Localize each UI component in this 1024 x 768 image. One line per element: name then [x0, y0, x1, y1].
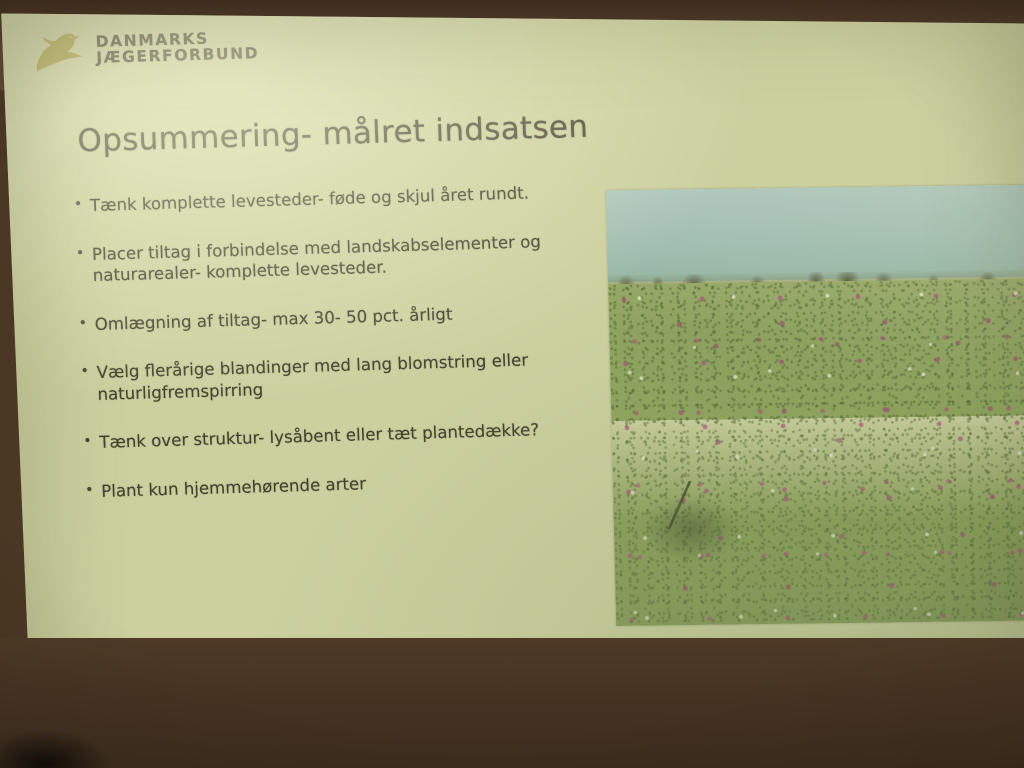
logo-line-2: JÆGERFORBUND — [96, 45, 260, 66]
bullet-text: Vælg flerårige blandinger med lang bloms… — [96, 348, 602, 406]
bullet-item: • Plant kun hjemmehørende arter — [85, 466, 606, 503]
bullet-marker-icon: • — [83, 432, 100, 451]
bullet-marker-icon: • — [76, 244, 93, 263]
photo-sky — [606, 184, 1024, 281]
bullet-item: • Tænk over struktur- lysåbent eller tæt… — [83, 418, 604, 455]
bullet-marker-icon: • — [74, 195, 91, 214]
bullet-item: • Vælg flerårige blandinger med lang blo… — [80, 348, 602, 406]
bullet-text: Tænk over struktur- lysåbent eller tæt p… — [99, 418, 604, 454]
bullet-text: Omlægning af tiltag- max 30- 50 pct. årl… — [94, 299, 599, 335]
bullet-text: Placer tiltag i forbindelse med landskab… — [92, 229, 598, 287]
bullet-marker-icon: • — [85, 481, 102, 500]
photo-white-flowers — [608, 278, 1024, 626]
bullet-item: • Tænk komplette levesteder- føde og skj… — [74, 181, 595, 218]
bullet-marker-icon: • — [78, 314, 95, 333]
slide-bullet-list: • Tænk komplette levesteder- føde og skj… — [74, 181, 607, 530]
bullet-item: • Omlægning af tiltag- max 30- 50 pct. å… — [78, 299, 599, 336]
projected-slide-photo-scene: DANMARKS JÆGERFORBUND Opsummering- målre… — [0, 0, 1024, 768]
projection-screen: DANMARKS JÆGERFORBUND Opsummering- målre… — [0, 0, 1024, 743]
bullet-text: Tænk komplette levesteder- føde og skjul… — [90, 181, 595, 217]
organization-logo: DANMARKS JÆGERFORBUND — [29, 22, 260, 75]
wildflower-meadow-photo — [606, 184, 1024, 626]
presentation-slide: DANMARKS JÆGERFORBUND Opsummering- målre… — [0, 0, 1024, 743]
bullet-text: Plant kun hjemmehørende arter — [101, 466, 606, 502]
corner-shadow — [0, 728, 110, 768]
logo-wordmark: DANMARKS JÆGERFORBUND — [95, 29, 259, 66]
photo-meadow — [608, 278, 1024, 626]
wall-below-screen — [0, 638, 1024, 768]
flying-duck-icon — [29, 27, 85, 75]
slide-title: Opsummering- målret indsatsen — [77, 109, 589, 160]
photo-tall-stem — [644, 481, 717, 530]
bullet-item: • Placer tiltag i forbindelse med landsk… — [76, 229, 598, 287]
bullet-marker-icon: • — [80, 362, 97, 381]
